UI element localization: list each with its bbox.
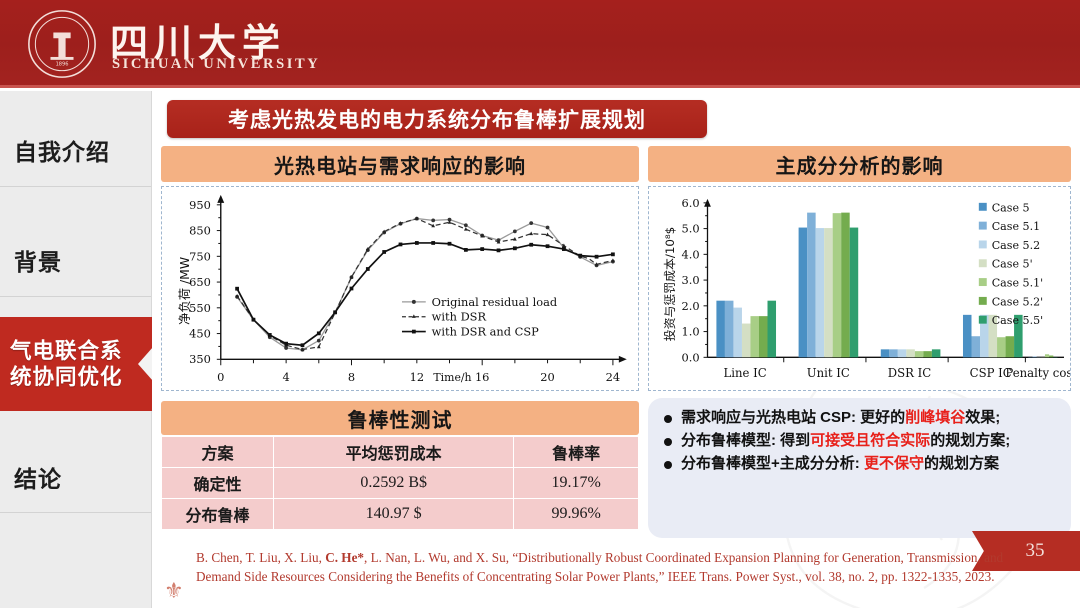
y-axis-label: 投资与惩罚成本/10⁸$ [663,227,677,342]
x-category: Unit IC [807,366,850,380]
table-header-row: 方案 平均惩罚成本 鲁棒率 [162,437,639,468]
legend-label-2: with DSR [432,310,487,324]
y-tick: 350 [189,352,211,366]
table-col-header: 鲁棒率 [514,437,639,468]
y-tick: 850 [189,224,211,238]
y-tick: 4.0 [681,247,699,261]
line-chart-legend: Original residual load with DSR with DSR… [402,295,557,339]
table-cell-cost: 0.2592 B$ [274,468,514,499]
legend-label-5: Case 5.1' [992,277,1044,290]
bullet-dot-icon [664,461,672,469]
y-tick: 750 [189,249,211,263]
bullet-dot-icon [664,415,672,423]
x-category: DSR IC [888,366,931,380]
panel-header-left: 光热电站与需求响应的影响 [161,146,639,182]
table-header-banner: 鲁棒性测试 [161,401,639,435]
y-tick: 3.0 [681,273,699,287]
y-tick: 450 [189,327,211,341]
panel-header-right: 主成分分析的影响 [648,146,1071,182]
sidebar-item-conclusion[interactable]: 结论 [0,441,151,513]
y-tick: 950 [189,198,211,212]
y-tick: 550 [189,301,211,315]
sidebar-item-intro[interactable]: 自我介绍 [0,113,151,187]
robustness-test-table: 方案 平均惩罚成本 鲁棒率 确定性 0.2592 B$ 19.17% 分布鲁棒 … [161,436,639,530]
x-category: Penalty cost [1005,366,1070,380]
bullet-text-3: 分布鲁棒模型+主成分分析: 更不保守的规划方案 [681,454,999,474]
svg-text:1896: 1896 [56,62,69,68]
table-cell-scheme: 确定性 [162,468,274,499]
y-tick: 1.0 [681,325,699,339]
x-tick: 24 [606,370,620,384]
x-tick: 4 [282,370,289,384]
legend-label-3: Case 5.2 [992,239,1040,252]
table-row: 分布鲁棒 140.97 $ 99.96% [162,499,639,530]
bar-chart-legend: Case 5 Case 5.1 Case 5.2 Case 5' Case 5.… [979,201,1043,327]
sidebar-item-label-line2: 统协同优化 [10,364,123,390]
investment-penalty-cost-bar-chart: 6.0 5.0 4.0 3.0 2.0 1.0 0.0 投资与惩罚成本/10⁸$ [649,187,1070,390]
table-row: 确定性 0.2592 B$ 19.17% [162,468,639,499]
citation-text: B. Chen, T. Liu, X. Liu, C. He*, L. Nan,… [196,549,1026,586]
y-tick: 6.0 [681,196,699,210]
slide-body: 考虑光热发电的电力系统分布鲁棒扩展规划 光热电站与需求响应的影响 主成分分析的影… [152,91,1080,608]
bullet-item: 分布鲁棒模型: 得到可接受且符合实际的规划方案; [660,431,1061,451]
sichuan-university-seal-icon: 1896 [26,8,98,80]
conclusions-bullet-panel: 需求响应与光热电站 CSP: 更好的削峰填谷效果; 分布鲁棒模型: 得到可接受且… [648,398,1071,538]
y-tick: 0.0 [681,350,699,364]
table-col-header: 平均惩罚成本 [274,437,514,468]
series-original-residual-load [237,219,613,350]
sidebar-item-gas-power-coordination[interactable]: 气电联合系 统协同优化 [0,317,152,411]
page-header: 1896 四川大学 SICHUAN UNIVERSITY [0,0,1080,88]
legend-label-7: Case 5.5' [992,314,1044,327]
sidebar-item-label-line1: 气电联合系 [10,338,123,364]
y-axis-label: 净负荷 /MW [178,257,192,325]
x-tick: 20 [540,370,554,384]
x-category: Line IC [724,366,767,380]
table-cell-scheme: 分布鲁棒 [162,499,274,530]
bullet-text-2: 分布鲁棒模型: 得到可接受且符合实际的规划方案; [681,431,1010,451]
legend-label-2: Case 5.1 [992,220,1040,233]
x-tick: 12 [410,370,424,384]
bullet-item: 需求响应与光热电站 CSP: 更好的削峰填谷效果; [660,408,1061,428]
y-tick: 5.0 [681,222,699,236]
x-tick: 16 [475,370,489,384]
line-chart-panel: 950 850 750 650 550 450 350 净负荷 /MW [161,186,639,391]
table-cell-rate: 19.17% [514,468,639,499]
x-tick: 8 [348,370,355,384]
sidebar-item-background[interactable]: 背景 [0,223,151,297]
slide-title: 考虑光热发电的电力系统分布鲁棒扩展规划 [167,100,707,138]
citation-mark-icon: ⚜ [164,578,188,602]
bar-group-unit-ic [799,213,859,358]
bar-group-line-ic [716,301,776,358]
table-cell-cost: 140.97 $ [274,499,514,530]
university-name-en: SICHUAN UNIVERSITY [112,56,320,73]
y-tick: 2.0 [681,299,699,313]
legend-label-4: Case 5' [992,258,1033,271]
x-tick: 0 [217,370,224,384]
legend-label-1: Original residual load [432,295,558,309]
net-load-line-chart: 950 850 750 650 550 450 350 净负荷 /MW [162,187,638,390]
sidebar-item-label: 自我介绍 [14,133,110,167]
sidebar-item-label: 结论 [14,460,62,494]
bar-chart-panel: 6.0 5.0 4.0 3.0 2.0 1.0 0.0 投资与惩罚成本/10⁸$ [648,186,1071,391]
table-col-header: 方案 [162,437,274,468]
bullet-dot-icon [664,438,672,446]
x-axis-label: Time/h [433,371,471,384]
table-cell-rate: 99.96% [514,499,639,530]
legend-label-3: with DSR and CSP [432,325,539,339]
y-tick: 650 [189,275,211,289]
bar-group-dsr-ic [881,349,941,357]
bullet-item: 分布鲁棒模型+主成分分析: 更不保守的规划方案 [660,454,1061,474]
bullet-text-1: 需求响应与光热电站 CSP: 更好的削峰填谷效果; [681,408,1000,428]
sidebar-nav: 自我介绍 背景 气电联合系 统协同优化 结论 [0,91,152,608]
legend-label-1: Case 5 [992,201,1030,214]
legend-label-6: Case 5.2' [992,295,1044,308]
sidebar-item-label: 背景 [14,243,62,277]
